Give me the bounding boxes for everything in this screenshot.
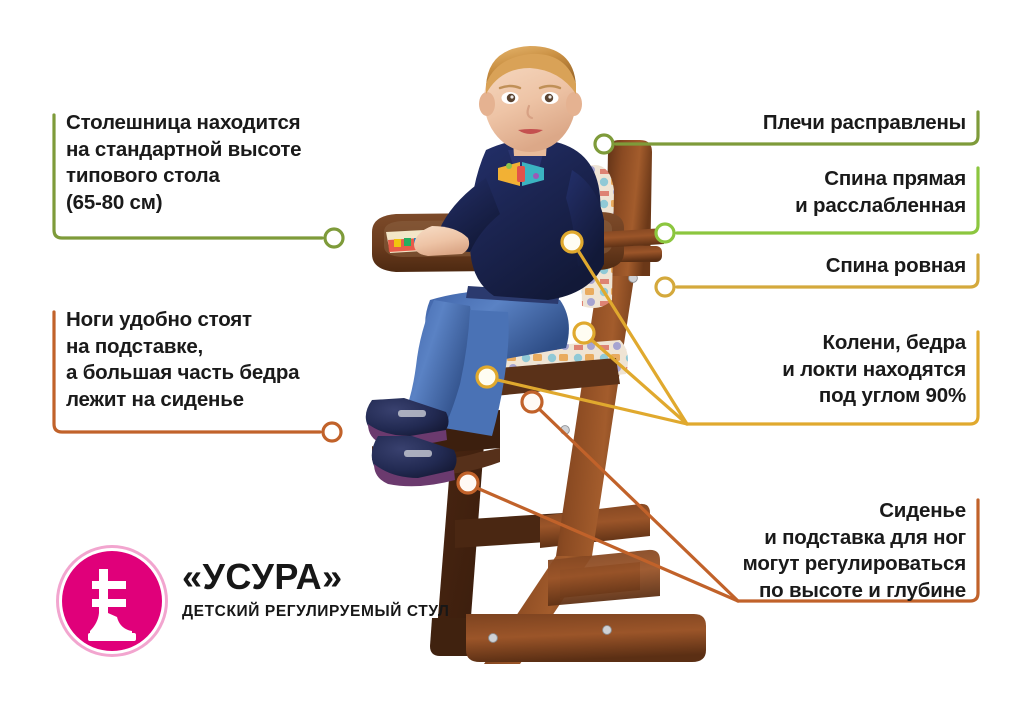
brand-logo[interactable]: «УСУРА» ДЕТСКИЙ РЕГУЛИРУЕМЫЙ СТУЛ	[62, 551, 362, 661]
callout-line: Спина прямая	[690, 166, 966, 193]
connector-endpoint-dot	[656, 278, 674, 296]
callout-back-even-text: Спина ровная	[720, 253, 978, 280]
logo-badge	[62, 551, 162, 651]
branch-dot	[522, 392, 542, 412]
callout-line: Плечи расправлены	[700, 110, 966, 137]
callout-seat-footrest-adjustable-text: Сиденье и подставка для ног могут регули…	[680, 498, 978, 605]
callout-line: и расслабленная	[690, 193, 966, 220]
callout-line: и локти находятся	[690, 357, 966, 384]
callout-knees-hips-elbows-text: Колени, бедра и локти находятся под угло…	[690, 330, 978, 410]
callout-line: (65-80 см)	[66, 190, 354, 217]
callout-line: а большая часть бедра	[66, 360, 364, 387]
branch-dot	[458, 473, 478, 493]
logo-brand-name: «УСУРА»	[182, 559, 343, 595]
branch-dot	[562, 232, 582, 252]
callout-line: Столешница находится	[66, 110, 354, 137]
callout-back-straight-relaxed[interactable]: Спина прямая и расслабленная	[690, 166, 978, 219]
logo-subtitle-line2: РЕГУЛИРУЕМЫЙ СТУЛ	[265, 603, 450, 620]
callout-feet-on-footrest-text: Ноги удобно стоят на подставке, а больша…	[54, 307, 364, 414]
callout-line: под углом 90%	[690, 383, 966, 410]
callout-line: Спина ровная	[720, 253, 966, 280]
branch-dot	[574, 323, 594, 343]
connector-endpoint-dot	[656, 224, 674, 242]
branch-dot	[477, 367, 497, 387]
callout-line: Колени, бедра	[690, 330, 966, 357]
callout-line: Ноги удобно стоят	[66, 307, 364, 334]
callout-line: и подставка для ног	[680, 525, 966, 552]
callout-line: на стандартной высоте	[66, 137, 354, 164]
logo-subtitle: ДЕТСКИЙ РЕГУЛИРУЕМЫЙ СТУЛ	[182, 603, 450, 622]
callout-tabletop-height-text: Столешница находится на стандартной высо…	[54, 110, 354, 217]
callout-line: могут регулироваться	[680, 551, 966, 578]
connector-endpoint-dot	[323, 423, 341, 441]
callout-seat-footrest-adjustable[interactable]: Сиденье и подставка для ног могут регули…	[680, 498, 978, 605]
connector-endpoint-dot	[325, 229, 343, 247]
logo-subtitle-line1: ДЕТСКИЙ	[182, 603, 260, 620]
growing-chair-icon	[62, 551, 162, 651]
connector-endpoint-dot	[595, 135, 613, 153]
callout-line: Сиденье	[680, 498, 966, 525]
callout-line: по высоте и глубине	[680, 578, 966, 605]
callout-tabletop-height[interactable]: Столешница находится на стандартной высо…	[54, 110, 354, 217]
infographic-canvas: Столешница находится на стандартной высо…	[0, 0, 1024, 724]
callout-knees-hips-elbows[interactable]: Колени, бедра и локти находятся под угло…	[690, 330, 978, 410]
callout-shoulders-straight-text: Плечи расправлены	[700, 110, 978, 137]
callout-back-straight-relaxed-text: Спина прямая и расслабленная	[690, 166, 978, 219]
callout-line: на подставке,	[66, 334, 364, 361]
callout-feet-on-footrest[interactable]: Ноги удобно стоят на подставке, а больша…	[54, 307, 364, 414]
callout-shoulders-straight[interactable]: Плечи расправлены	[700, 110, 978, 137]
callout-line: лежит на сиденье	[66, 387, 364, 414]
callout-line: типового стола	[66, 163, 354, 190]
callout-back-even[interactable]: Спина ровная	[720, 253, 978, 280]
